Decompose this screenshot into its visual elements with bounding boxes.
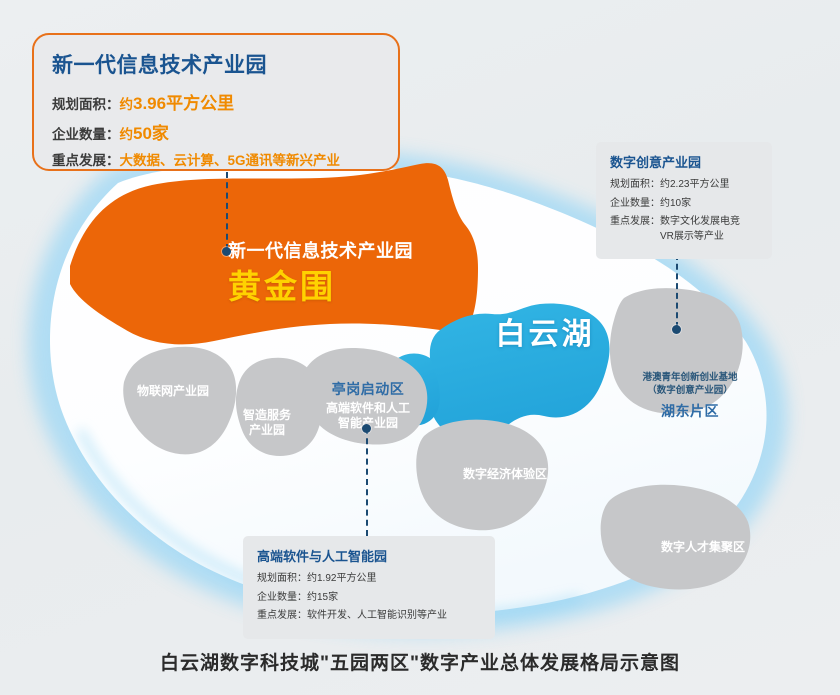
card-row-enterprises: 企业数量： 约10家 <box>610 197 759 212</box>
row-value: 50家 <box>133 119 169 144</box>
row-value-prefix: 约 <box>120 123 134 143</box>
row-value: 数字文化发展电竞 VR展示等产业 <box>660 215 740 244</box>
zone-shuzirencai <box>601 485 751 590</box>
card-row-area: 规划面积： 约 3.96平方公里 <box>52 89 380 114</box>
map-label-tinggang-title: 亭岗启动区 <box>310 381 426 399</box>
map-label-xin-yi-dai: 新一代信息技术产业园 <box>228 240 458 263</box>
connector-line-gangao <box>676 254 678 328</box>
card-row-focus: 重点发展： 软件开发、人工智能识别等产业 <box>257 609 482 624</box>
map-label-shuzi-jingji: 数字经济体验区 <box>447 467 563 482</box>
row-label: 规划面积： <box>52 93 120 113</box>
map-label-gangao-base: 港澳青年创新创业基地 （数字创意产业园） <box>628 372 752 398</box>
map-label-zhizao-fuwu: 智造服务 产业园 <box>226 408 308 438</box>
connector-dot-tinggang <box>362 424 371 433</box>
card-title: 数字创意产业园 <box>610 152 759 171</box>
infographic-page: 新一代信息技术产业园 黄金围 白云湖 物联网产业园 智造服务 产业园 亭岗启动区… <box>0 0 840 695</box>
row-value: 3.96平方公里 <box>133 89 234 114</box>
info-card-new-generation-it[interactable]: 新一代信息技术产业园 规划面积： 约 3.96平方公里 企业数量： 约 50家 … <box>32 33 400 171</box>
row-value: 软件开发、人工智能识别等产业 <box>307 609 447 624</box>
card-row-focus: 重点发展： 数字文化发展电竞 VR展示等产业 <box>610 215 759 244</box>
row-value: 大数据、云计算、5G通讯等新兴产业 <box>120 149 341 169</box>
card-title: 新一代信息技术产业园 <box>52 49 380 79</box>
row-value: 约1.92平方公里 <box>307 572 376 587</box>
row-label: 企业数量： <box>610 197 660 212</box>
row-label: 规划面积： <box>610 178 660 193</box>
row-label: 企业数量： <box>257 591 307 606</box>
info-card-digital-creative[interactable]: 数字创意产业园 规划面积： 约2.23平方公里 企业数量： 约10家 重点发展：… <box>596 142 772 259</box>
card-row-area: 规划面积： 约1.92平方公里 <box>257 572 482 587</box>
card-title: 高端软件与人工智能园 <box>257 546 482 565</box>
row-label: 重点发展： <box>52 149 120 169</box>
figure-caption: 白云湖数字科技城"五园两区"数字产业总体发展格局示意图 <box>0 648 840 675</box>
connector-line-tinggang <box>366 428 368 536</box>
card-row-enterprises: 企业数量： 约15家 <box>257 591 482 606</box>
connector-dot-gangao <box>672 325 681 334</box>
map-label-baiyun-lake: 白云湖 <box>470 316 620 354</box>
row-value: 约10家 <box>660 197 691 212</box>
map-label-hudong-pianqu: 湖东片区 <box>634 403 746 421</box>
row-label: 重点发展： <box>257 609 307 624</box>
card-row-enterprises: 企业数量： 约 50家 <box>52 119 380 144</box>
row-label: 企业数量： <box>52 123 120 143</box>
row-label: 重点发展： <box>610 215 660 230</box>
row-value: 约2.23平方公里 <box>660 178 729 193</box>
row-value-prefix: 约 <box>120 93 134 113</box>
row-value: 约15家 <box>307 591 338 606</box>
card-row-area: 规划面积： 约2.23平方公里 <box>610 178 759 193</box>
info-card-high-end-software[interactable]: 高端软件与人工智能园 规划面积： 约1.92平方公里 企业数量： 约15家 重点… <box>243 536 495 639</box>
map-label-shuzi-rencai: 数字人才集聚区 <box>645 540 761 555</box>
connector-dot-xin-yi-dai <box>222 247 231 256</box>
card-row-focus: 重点发展： 大数据、云计算、5G通讯等新兴产业 <box>52 149 380 169</box>
row-label: 规划面积： <box>257 572 307 587</box>
map-label-wulianwang: 物联网产业园 <box>118 384 228 399</box>
map-label-huang-jin-wei: 黄金围 <box>228 266 458 307</box>
connector-line-xin-yi-dai <box>226 172 228 250</box>
